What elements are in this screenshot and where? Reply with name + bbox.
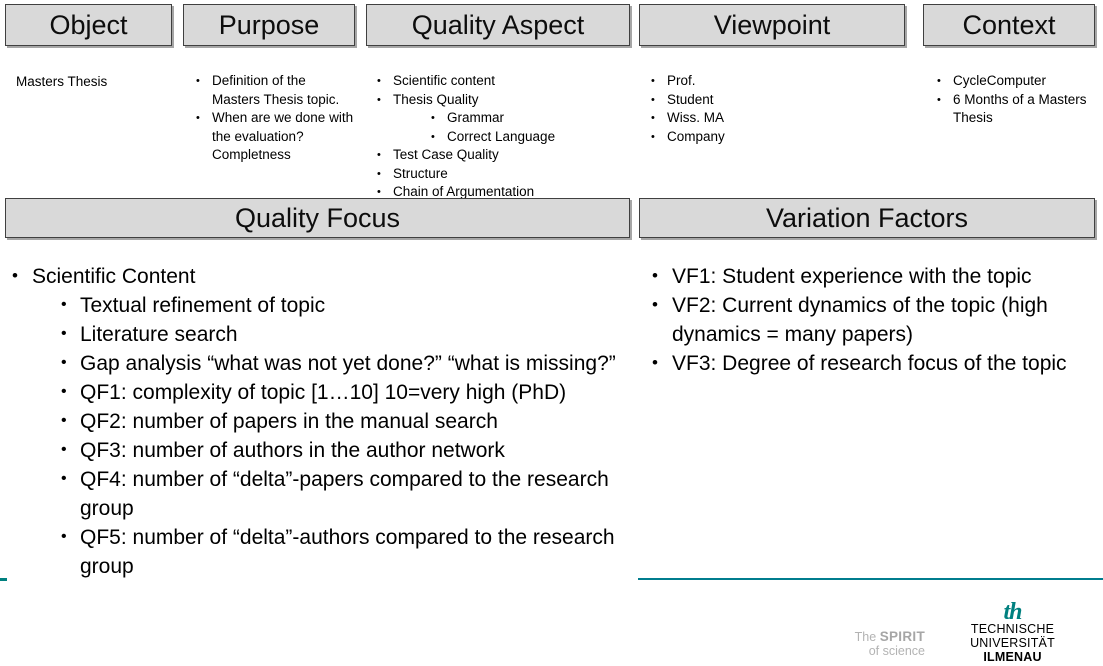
list-item: VF2: Current dynamics of the topic (high… <box>648 291 1085 349</box>
list-item: Structure <box>374 165 636 184</box>
header-label-object: Object <box>49 12 127 39</box>
list-item: QF5: number of “delta”-authors compared … <box>32 523 628 581</box>
header-box-object: Object <box>5 4 172 46</box>
object-item: Masters Thesis <box>16 73 176 92</box>
quality-focus-item-text: Scientific Content <box>32 265 195 288</box>
viewpoint-item-text: Wiss. MA <box>667 110 724 125</box>
quality-focus-subitem-text: QF3: number of authors in the author net… <box>80 439 505 462</box>
list-item: Definition of the Masters Thesis topic. <box>193 72 355 109</box>
quality-focus-subitem-text: Literature search <box>80 323 238 346</box>
quality-focus-subitem-text: Gap analysis “what was not yet done?” “w… <box>80 352 616 375</box>
list-item: Correct Language <box>393 128 636 147</box>
header-label-purpose: Purpose <box>219 12 320 39</box>
tu-ilmenau-logo: th TECHNISCHE UNIVERSITÄT ILMENAU <box>930 601 1095 664</box>
list-item: Prof. <box>648 72 898 91</box>
list-item: QF1: complexity of topic [1…10] 10=very … <box>32 378 628 407</box>
gqm-abstraction-sheet-slide: Object Purpose Quality Aspect Viewpoint … <box>0 0 1103 666</box>
header-box-viewpoint: Viewpoint <box>639 4 905 46</box>
quality-focus-subitem-text: Textual refinement of topic <box>80 294 325 317</box>
viewpoint-item-text: Company <box>667 129 725 144</box>
quality-focus-subitem-text: QF2: number of papers in the manual sear… <box>80 410 498 433</box>
list-item: Grammar <box>393 109 636 128</box>
variation-factor-item-text: VF1: Student experience with the topic <box>672 265 1032 288</box>
th-monogram-icon: th <box>930 601 1095 623</box>
quality-focus-subitem-text: QF5: number of “delta”-authors compared … <box>80 526 615 578</box>
purpose-item-text: When are we done with the evaluation? Co… <box>212 110 353 162</box>
footer-teal-divider <box>638 578 1103 580</box>
column-body-purpose: Definition of the Masters Thesis topic. … <box>193 72 355 165</box>
viewpoint-item-text: Student <box>667 92 714 107</box>
quality-focus-body: Scientific Content Textual refinement of… <box>8 262 628 581</box>
list-item: Gap analysis “what was not yet done?” “w… <box>32 349 628 378</box>
left-edge-teal-tick <box>0 578 7 581</box>
list-item: VF3: Degree of research focus of the top… <box>648 349 1085 378</box>
column-body-context: CycleComputer 6 Months of a Masters Thes… <box>934 72 1094 128</box>
header-box-variation-factors: Variation Factors <box>639 198 1095 238</box>
variation-factors-body: VF1: Student experience with the topic V… <box>648 262 1085 378</box>
list-item: Wiss. MA <box>648 109 898 128</box>
list-item: Literature search <box>32 320 628 349</box>
list-item: Textual refinement of topic <box>32 291 628 320</box>
header-box-context: Context <box>923 4 1095 46</box>
column-body-object: Masters Thesis <box>16 73 176 92</box>
variation-factor-item-text: VF2: Current dynamics of the topic (high… <box>672 294 1048 346</box>
header-label-viewpoint: Viewpoint <box>714 12 831 39</box>
list-item: Company <box>648 128 898 147</box>
context-item-text: 6 Months of a Masters Thesis <box>953 92 1087 126</box>
list-item: Student <box>648 91 898 110</box>
header-label-context: Context <box>962 12 1055 39</box>
quality-aspect-subitem-text: Grammar <box>447 110 504 125</box>
header-box-purpose: Purpose <box>183 4 355 46</box>
list-item: CycleComputer <box>934 72 1094 91</box>
list-item: QF3: number of authors in the author net… <box>32 436 628 465</box>
list-item: VF1: Student experience with the topic <box>648 262 1085 291</box>
header-label-variation-factors: Variation Factors <box>766 205 968 232</box>
quality-focus-subitem-text: QF1: complexity of topic [1…10] 10=very … <box>80 381 566 404</box>
header-label-quality-focus: Quality Focus <box>235 205 400 232</box>
header-box-quality-aspect: Quality Aspect <box>366 4 630 46</box>
spirit-word: SPIRIT <box>880 629 925 644</box>
list-item: Thesis Quality Grammar Correct Language <box>374 91 636 147</box>
tu-logo-line2: ILMENAU <box>930 650 1095 664</box>
header-box-quality-focus: Quality Focus <box>5 198 630 238</box>
spirit-the-label: The <box>855 630 877 644</box>
spirit-of-science-logo: The SPIRIT of science <box>805 630 925 658</box>
list-item: QF4: number of “delta”-papers compared t… <box>32 465 628 523</box>
of-science-label: of science <box>805 644 925 658</box>
list-item: Scientific Content Textual refinement of… <box>8 262 628 581</box>
quality-aspect-item-text: Test Case Quality <box>393 147 499 162</box>
list-item: Scientific content <box>374 72 636 91</box>
context-item-text: CycleComputer <box>953 73 1046 88</box>
list-item: When are we done with the evaluation? Co… <box>193 109 355 165</box>
quality-aspect-subitem-text: Correct Language <box>447 129 555 144</box>
quality-aspect-item-text: Structure <box>393 166 448 181</box>
list-item: QF2: number of papers in the manual sear… <box>32 407 628 436</box>
purpose-item-text: Definition of the Masters Thesis topic. <box>212 73 339 107</box>
tu-logo-line1: TECHNISCHE UNIVERSITÄT <box>930 622 1095 650</box>
viewpoint-item-text: Prof. <box>667 73 696 88</box>
quality-aspect-item-text: Thesis Quality <box>393 92 479 107</box>
variation-factor-item-text: VF3: Degree of research focus of the top… <box>672 352 1067 375</box>
list-item: 6 Months of a Masters Thesis <box>934 91 1094 128</box>
quality-aspect-item-text: Scientific content <box>393 73 495 88</box>
header-label-quality-aspect: Quality Aspect <box>412 12 585 39</box>
list-item: Test Case Quality <box>374 146 636 165</box>
quality-focus-subitem-text: QF4: number of “delta”-papers compared t… <box>80 468 609 520</box>
column-body-viewpoint: Prof. Student Wiss. MA Company <box>648 72 898 146</box>
quality-aspect-item-text: Chain of Argumentation <box>393 184 534 199</box>
